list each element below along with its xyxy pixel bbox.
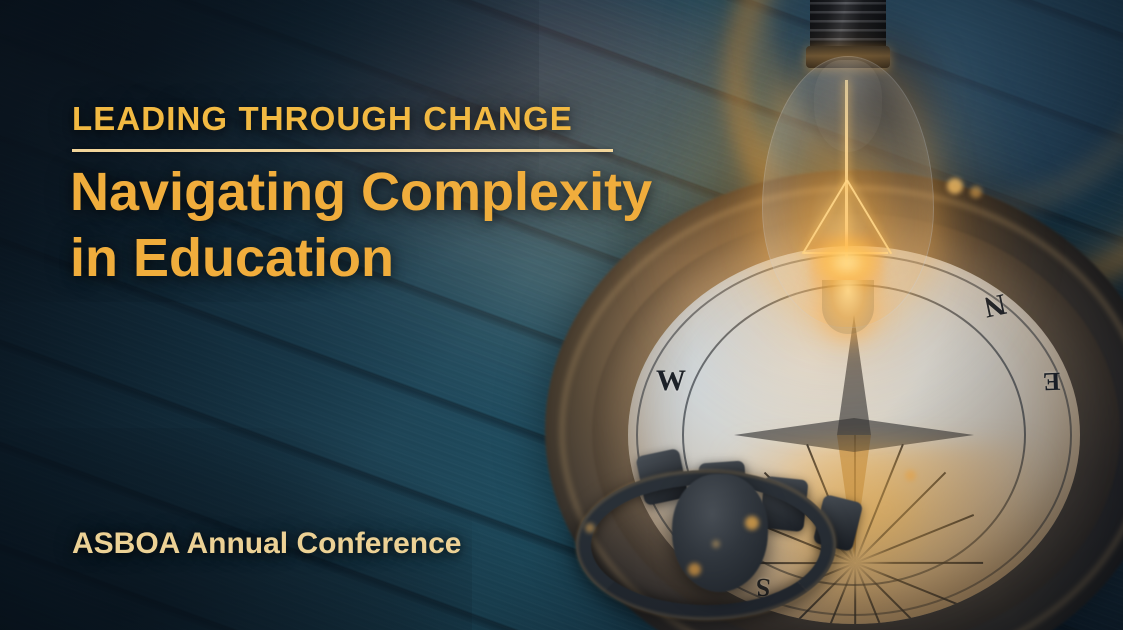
eyebrow-theme-label: LEADING THROUGH CHANGE [72, 100, 573, 138]
conference-title-slide: W N E S 60 30 00 [0, 0, 1123, 630]
headline-line-1: Navigating Complexity [70, 162, 652, 222]
event-name: ASBOA Annual Conference [72, 524, 509, 564]
event-details: ASBOA Annual Conference June 15 – 17, 20… [72, 444, 509, 630]
page-title: Navigating Complexity in Education [70, 160, 652, 292]
title-text-block: LEADING THROUGH CHANGE Navigating Comple… [72, 0, 692, 630]
headline-line-2: in Education [70, 226, 652, 292]
title-divider-rule [72, 149, 613, 152]
